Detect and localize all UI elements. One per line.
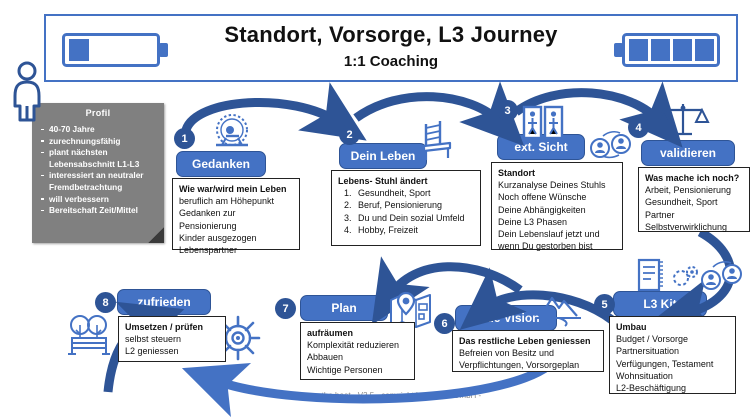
card-line: Gedanken zur Pensionierung [179, 207, 294, 231]
card-line: Befreien von Besitz und [459, 347, 598, 359]
card-line: Komplexität reduzieren [307, 339, 409, 351]
person-icon [10, 60, 44, 122]
gears-icon [670, 262, 702, 292]
step-number-4: 4 [628, 117, 649, 138]
card-line: Verpflichtungen, Vorsorgeplan [459, 359, 598, 371]
hamster-wheel-icon [208, 110, 256, 150]
card-line: L2-Beschäftigung [616, 382, 730, 394]
diagram-canvas: Standort, Vorsorge, L3 Journey 1:1 Coach… [0, 0, 754, 420]
step-card-gedanken: Wie war/wird mein Leben beruflich am Höh… [172, 178, 300, 250]
step-card-ext-sicht: Standort Kurzanalyse Deines Stuhls Noch … [491, 162, 623, 250]
card-heading: Umsetzen / prüfen [125, 321, 220, 333]
step-number-1: 1 [174, 128, 195, 149]
list-item: Hobby, Freizeit [354, 224, 475, 236]
card-line: Kinder ausgezogen [179, 232, 294, 244]
step-number-2: 2 [339, 124, 360, 145]
list-item: Du und Dein sozial Umfeld [354, 212, 475, 224]
people-exchange-icon [700, 258, 744, 292]
step-number-7: 7 [275, 298, 296, 319]
step-number-8: 8 [95, 292, 116, 313]
list-item: Gesundheit, Sport [354, 187, 475, 199]
step-card-neue-vision: Das restliche Leben geniessen Befreien v… [452, 330, 604, 372]
card-heading: Wie war/wird mein Leben [179, 183, 294, 195]
step-card-validieren: Was mache ich noch? Arbeit, Pensionierun… [638, 167, 750, 232]
two-doors-icon [521, 104, 565, 144]
people-exchange-icon [589, 128, 633, 160]
card-heading: Was mache ich noch? [645, 172, 744, 184]
card-heading: Das restliche Leben geniessen [459, 335, 598, 347]
step-card-l3-kit: Umbau Budget / Vorsorge Partnersituation… [609, 316, 736, 394]
step-card-plan: aufräumen Komplexität reduzieren Abbauen… [300, 322, 415, 380]
card-line: Wichtige Personen [307, 364, 409, 376]
card-line: Wohnsituation [616, 370, 730, 382]
card-line: Budget / Vorsorge [616, 333, 730, 345]
step-number-3: 3 [497, 100, 518, 121]
step-card-dein-leben: Lebens- Stuhl ändert Gesundheit, Sport B… [331, 170, 481, 246]
card-line: Abbauen [307, 351, 409, 363]
card-heading: Standort [498, 167, 617, 179]
card-line: beruflich am Höhepunkt [179, 195, 294, 207]
bench-trees-icon [64, 312, 116, 360]
card-line: Lebenspartner [179, 244, 294, 256]
card-line: Kurzanalyse Deines Stuhls [498, 179, 617, 191]
step-card-zufrieden: Umsetzen / prüfen selbst steuern L2 geni… [118, 316, 226, 362]
card-line: wenn Du gestorben bist [498, 240, 617, 252]
card-line: Deine Abhängigkeiten [498, 204, 617, 216]
card-line: Partner [645, 209, 744, 221]
card-line: Arbeit, Pensionierung [645, 184, 744, 196]
card-ordered-list: Gesundheit, Sport Beruf, Pensionierung D… [338, 187, 475, 236]
chair-icon [418, 118, 456, 162]
card-line: Selbstverwirklichung [645, 221, 744, 233]
card-line: Dein Lebenslauf jetzt und [498, 228, 617, 240]
card-heading: Umbau [616, 321, 730, 333]
card-heading: aufräumen [307, 327, 409, 339]
card-line: Noch offene Wünsche [498, 191, 617, 203]
step-number-5: 5 [594, 294, 615, 315]
card-line: Verfügungen, Testament [616, 358, 730, 370]
book-icon [636, 258, 666, 294]
card-heading: Lebens- Stuhl ändert [338, 175, 475, 187]
card-line: Partnersituation [616, 345, 730, 357]
card-line: Gesundheit, Sport [645, 196, 744, 208]
card-line: Deine L3 Phasen [498, 216, 617, 228]
card-line: selbst steuern [125, 333, 220, 345]
scales-icon [658, 100, 708, 140]
list-item: Beruf, Pensionierung [354, 199, 475, 211]
step-number-6: 6 [434, 313, 455, 334]
card-line: L2 geniessen [125, 345, 220, 357]
mountain-icon [535, 292, 585, 328]
